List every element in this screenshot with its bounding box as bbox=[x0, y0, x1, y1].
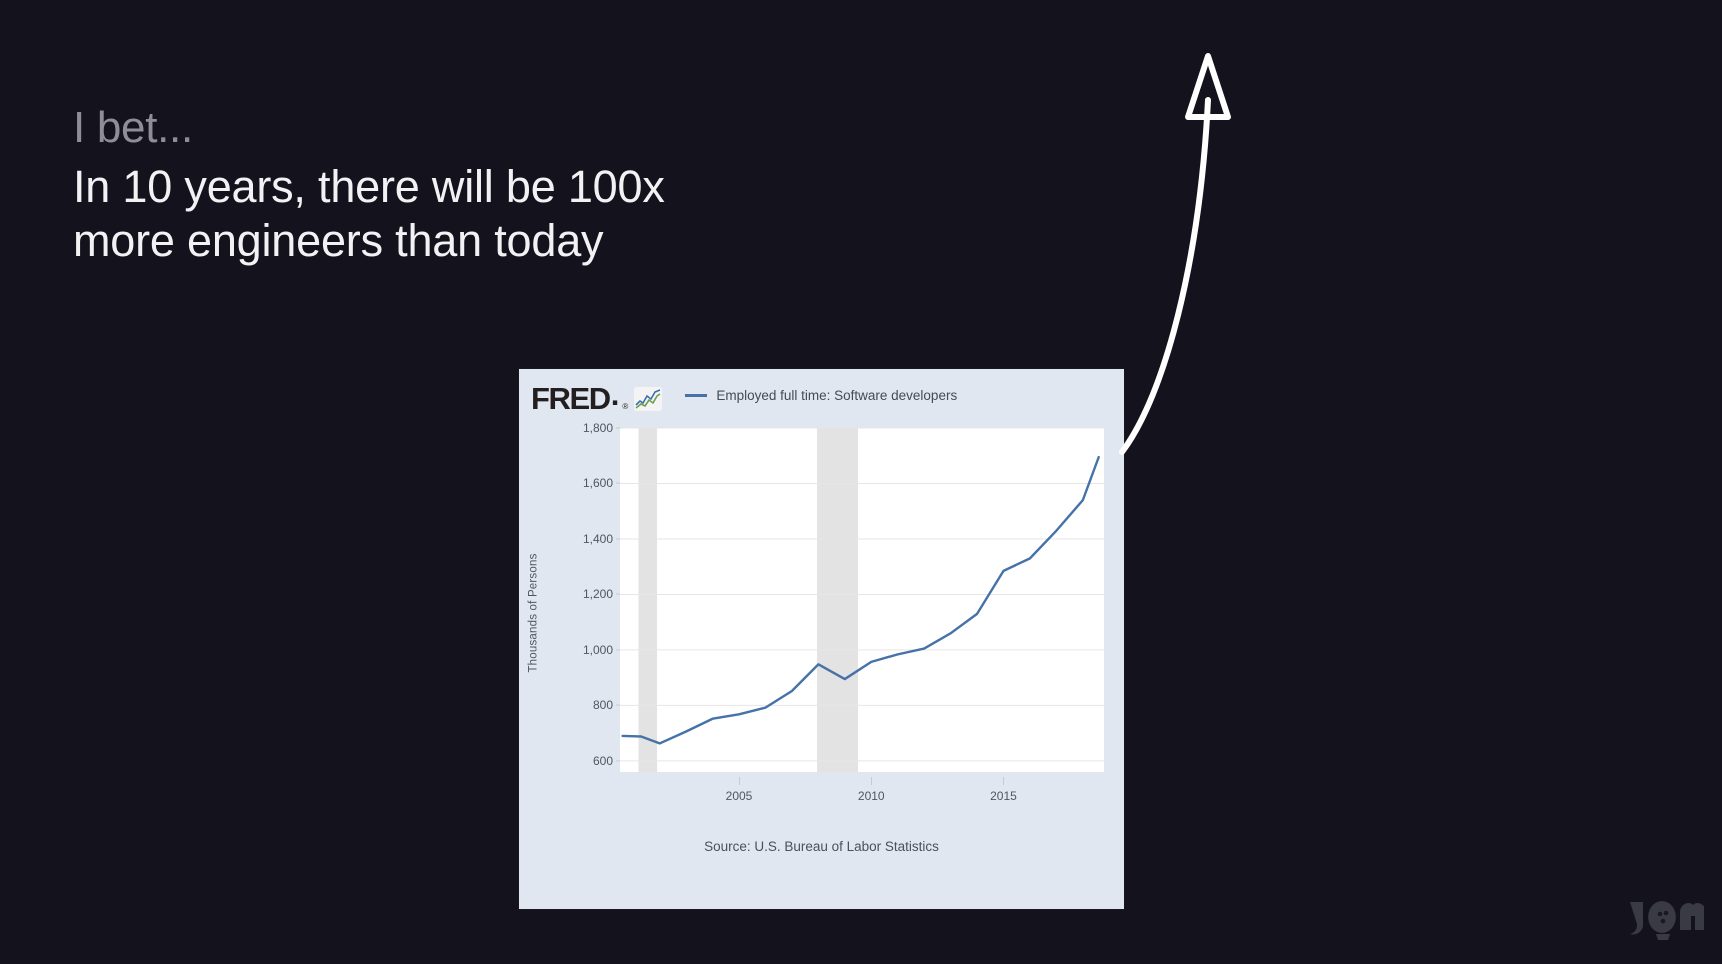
x-tick-mark bbox=[1003, 777, 1004, 785]
y-tick-label: 1,400 bbox=[583, 532, 613, 546]
plot-area bbox=[620, 428, 1104, 772]
slide-canvas: I bet... In 10 years, there will be 100x… bbox=[0, 0, 1722, 964]
x-tick-label: 2015 bbox=[990, 789, 1017, 803]
legend-label-software-developers: Employed full time: Software developers bbox=[716, 388, 957, 403]
y-tick-label: 800 bbox=[593, 698, 613, 712]
jam-logo bbox=[1620, 894, 1704, 946]
headline-block: I bet... In 10 years, there will be 100x… bbox=[73, 102, 665, 267]
x-tick-mark bbox=[871, 777, 872, 785]
fred-logo: FRED . ® bbox=[531, 377, 662, 413]
chart-svg bbox=[620, 428, 1104, 772]
fred-chart-header: FRED . ® Employed full time: Software de… bbox=[531, 377, 1124, 413]
y-tick-label: 1,200 bbox=[583, 587, 613, 601]
fred-chart-card: FRED . ® Employed full time: Software de… bbox=[519, 369, 1124, 909]
y-tick-label: 1,600 bbox=[583, 476, 613, 490]
recession-band-1 bbox=[817, 428, 858, 772]
fred-registered-mark: ® bbox=[622, 402, 628, 411]
x-tick-mark bbox=[739, 777, 740, 785]
x-axis-labels: 200520102015 bbox=[620, 777, 1104, 807]
fred-wordmark: FRED bbox=[531, 384, 610, 413]
headline-line-2: more engineers than today bbox=[73, 214, 665, 268]
y-tick-label: 1,000 bbox=[583, 643, 613, 657]
legend-swatch-software-developers bbox=[685, 394, 707, 397]
x-tick-label: 2005 bbox=[726, 789, 753, 803]
y-axis-labels: 6008001,0001,2001,4001,6001,800 bbox=[543, 413, 619, 813]
line-chart-icon bbox=[634, 387, 662, 411]
growth-arrow-curve bbox=[1122, 100, 1208, 452]
x-tick-label: 2010 bbox=[858, 789, 885, 803]
growth-arrow-head bbox=[1188, 56, 1228, 117]
headline-line-1: In 10 years, there will be 100x bbox=[73, 160, 665, 214]
chart-source-note: Source: U.S. Bureau of Labor Statistics bbox=[519, 839, 1124, 854]
chart-legend: Employed full time: Software developers bbox=[685, 388, 957, 403]
fred-logo-dot: . bbox=[611, 377, 620, 413]
headline-kicker: I bet... bbox=[73, 102, 665, 154]
y-tick-label: 600 bbox=[593, 754, 613, 768]
y-tick-label: 1,800 bbox=[583, 421, 613, 435]
recession-band-0 bbox=[639, 428, 658, 772]
y-axis-title: Thousands of Persons bbox=[525, 413, 543, 813]
chart-plot-wrapper: Thousands of Persons 6008001,0001,2001,4… bbox=[519, 413, 1124, 813]
series-line-0 bbox=[623, 457, 1099, 743]
